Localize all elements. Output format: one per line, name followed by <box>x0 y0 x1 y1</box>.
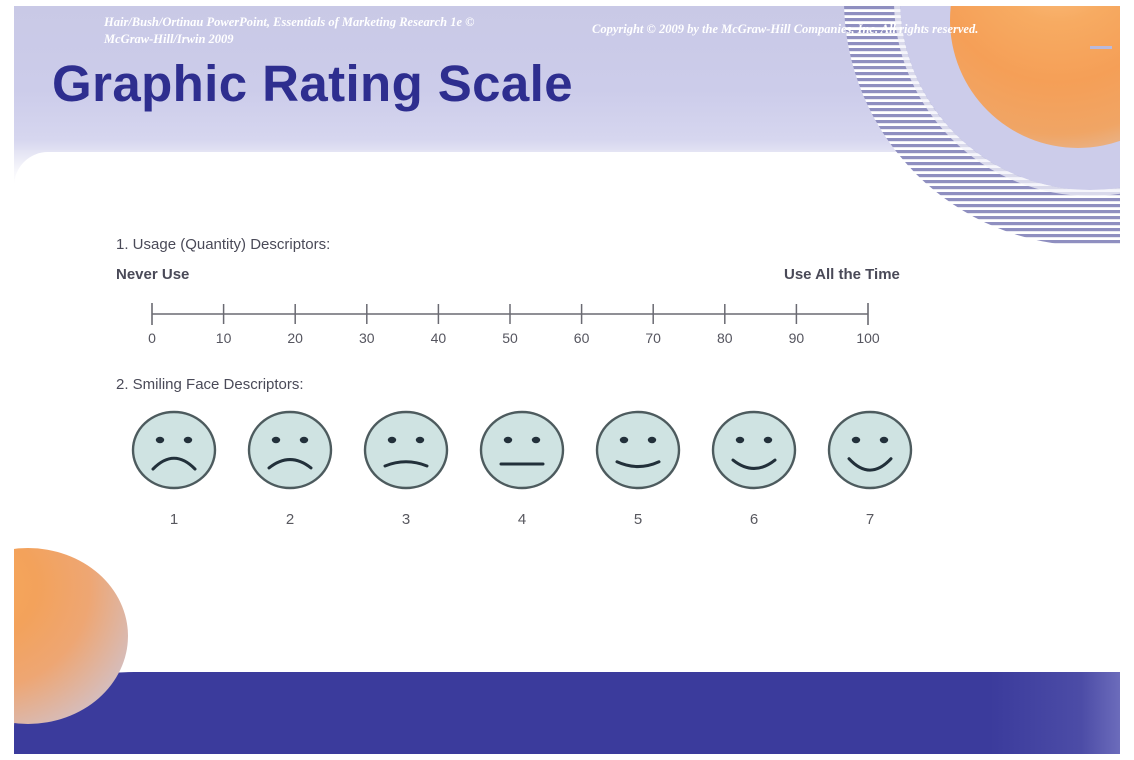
smiley-face-icon <box>356 400 456 500</box>
scale-tick-label: 80 <box>717 330 733 346</box>
face-scale-value: 3 <box>356 511 456 528</box>
face-scale-value: 6 <box>704 511 804 528</box>
face-scale-value: 7 <box>820 511 920 528</box>
scale-anchor-left: Never Use <box>116 266 189 283</box>
scale-tick-label: 50 <box>502 330 518 346</box>
scale-tick-label: 10 <box>216 330 232 346</box>
footer-band <box>14 672 1120 754</box>
scale-tick-label: 30 <box>359 330 375 346</box>
smiley-face-icon <box>472 400 572 500</box>
face-scale-point[interactable]: 2 <box>240 400 340 528</box>
face-scale-point[interactable]: 5 <box>588 400 688 528</box>
smiley-face-icon <box>704 400 804 500</box>
footer-dash <box>1090 46 1112 49</box>
scale-tick-label: 20 <box>287 330 303 346</box>
face-scale-point[interactable]: 6 <box>704 400 804 528</box>
face-scale-point[interactable]: 7 <box>820 400 920 528</box>
scale-axis <box>142 294 882 330</box>
section-2-heading: 2. Smiling Face Descriptors: <box>116 376 304 393</box>
slide: Graphic Rating Scale 1. Usage (Quantity)… <box>0 0 1134 760</box>
edge-right <box>1120 0 1134 760</box>
slide-content: 1. Usage (Quantity) Descriptors: Never U… <box>14 152 1120 672</box>
smiley-face-icon <box>124 400 224 500</box>
smiley-face-icon <box>240 400 340 500</box>
smiley-face-icon <box>588 400 688 500</box>
section-1-heading: 1. Usage (Quantity) Descriptors: <box>116 236 330 253</box>
face-scale-point[interactable]: 1 <box>124 400 224 528</box>
edge-left <box>0 0 14 760</box>
footer-credit: Hair/Bush/Ortinau PowerPoint, Essentials… <box>104 14 524 48</box>
face-scale-value: 1 <box>124 511 224 528</box>
scale-tick-label: 100 <box>856 330 879 346</box>
face-scale-point[interactable]: 4 <box>472 400 572 528</box>
edge-top <box>0 0 1134 6</box>
face-scale-value: 4 <box>472 511 572 528</box>
smiling-face-scale: 1234567 <box>114 400 934 540</box>
footer-copyright: Copyright © 2009 by the McGraw-Hill Comp… <box>592 22 978 37</box>
face-scale-point[interactable]: 3 <box>356 400 456 528</box>
face-scale-value: 2 <box>240 511 340 528</box>
smiley-face-icon <box>820 400 920 500</box>
scale-tick-label: 90 <box>789 330 805 346</box>
page-title: Graphic Rating Scale <box>52 54 573 113</box>
scale-anchor-right: Use All the Time <box>784 266 900 283</box>
scale-tick-label: 0 <box>148 330 156 346</box>
usage-scale: 0102030405060708090100 <box>142 294 882 356</box>
scale-tick-label: 70 <box>645 330 661 346</box>
scale-tick-label: 60 <box>574 330 590 346</box>
face-scale-value: 5 <box>588 511 688 528</box>
scale-tick-label: 40 <box>431 330 447 346</box>
